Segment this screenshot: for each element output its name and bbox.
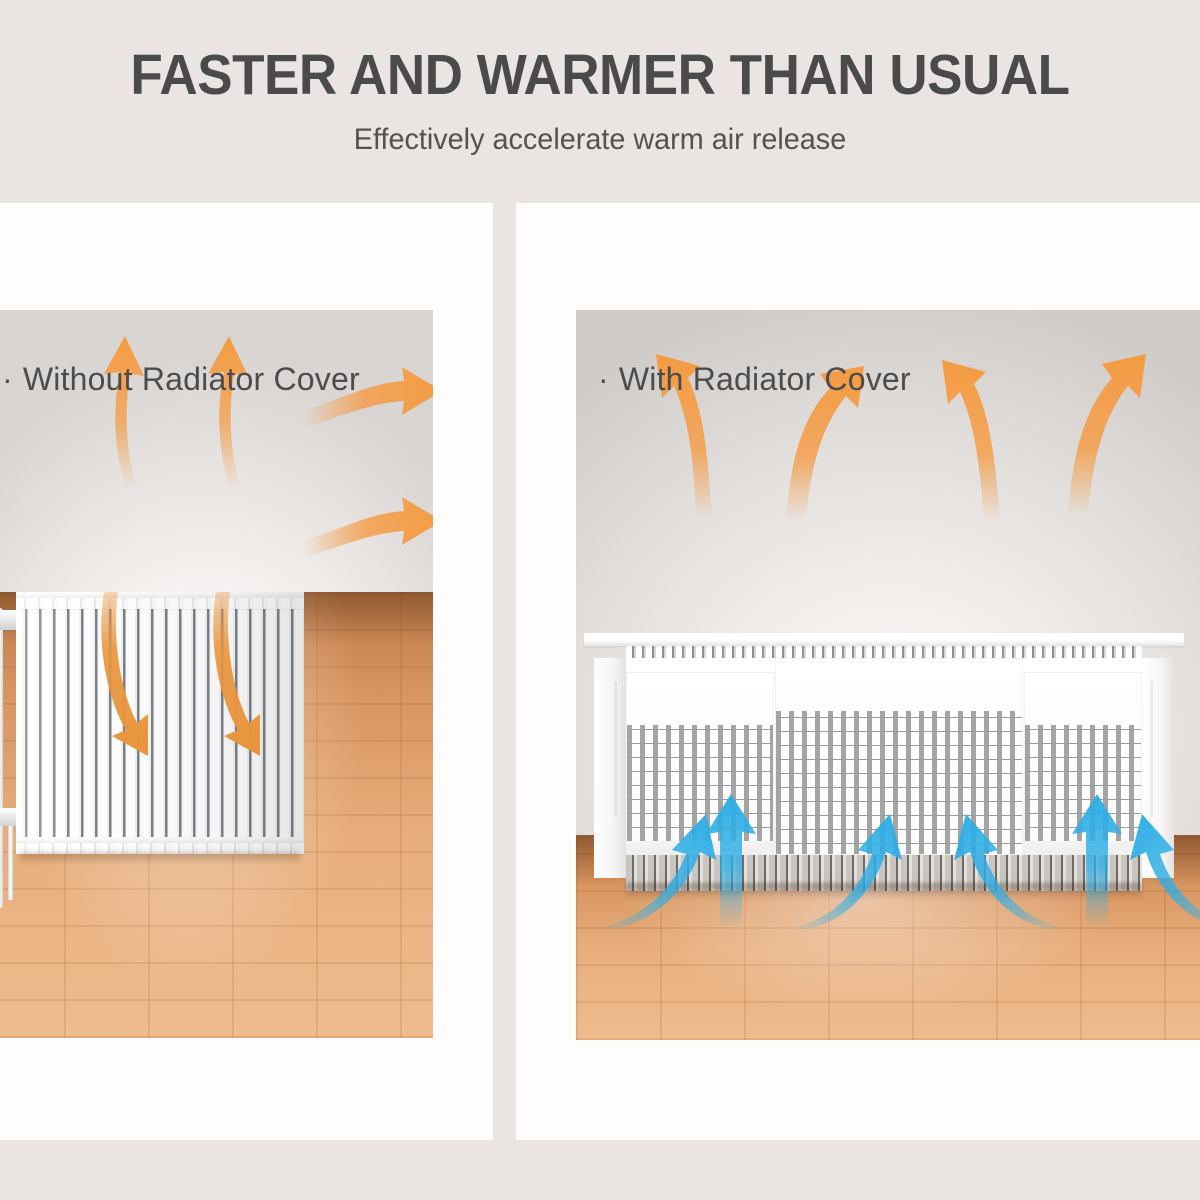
bullet-dot-icon: · xyxy=(2,361,13,397)
panel-label-with-cover: ·With Radiator Cover xyxy=(598,361,911,398)
cool-air-arrow-in-4 xyxy=(948,810,1068,930)
warm-air-arrow-out-right-2 xyxy=(1058,340,1168,518)
photo-with-cover: ·With Radiator Cover xyxy=(576,310,1200,1040)
header-banner: FASTER AND WARMER THAN USUAL Effectively… xyxy=(0,0,1200,203)
vertical-pipe xyxy=(0,608,3,908)
panel-card-with-cover: ·With Radiator Cover xyxy=(516,203,1200,1140)
cool-air-arrow-in-3 xyxy=(788,810,908,930)
warm-air-arrow-up-1 xyxy=(92,310,162,490)
page-subtitle: Effectively accelerate warm air release xyxy=(24,122,1176,158)
warm-air-arrow-down-1 xyxy=(90,590,170,770)
warm-air-arrow-up-2 xyxy=(196,310,266,490)
radiator-floor-shadow xyxy=(20,853,300,863)
bullet-dot-icon: · xyxy=(598,361,609,397)
warm-air-arrow-out-right-1 xyxy=(936,348,1046,523)
cool-air-arrow-in-5 xyxy=(1068,788,1128,930)
cool-air-arrow-in-6 xyxy=(1124,810,1200,930)
cover-top-rail xyxy=(584,633,1184,646)
panel-label-text: With Radiator Cover xyxy=(619,361,911,397)
panel-card-without-cover: ·Without Radiator Cover xyxy=(0,203,493,1140)
warm-air-arrow-down-2 xyxy=(202,590,282,770)
cover-post-groove-left xyxy=(614,681,617,817)
warm-air-arrow-right-2 xyxy=(300,495,433,575)
pipe-stub-right xyxy=(8,826,13,900)
cool-air-arrow-in-2 xyxy=(702,788,762,930)
panel-label-without-cover: ·Without Radiator Cover xyxy=(2,361,360,398)
page-title: FASTER AND WARMER THAN USUAL xyxy=(42,44,1158,106)
cover-top-vent-slots xyxy=(626,646,1142,658)
panel-label-text: Without Radiator Cover xyxy=(23,361,360,397)
cover-post-groove-right xyxy=(1150,681,1153,817)
photo-without-cover: ·Without Radiator Cover xyxy=(0,310,433,1038)
